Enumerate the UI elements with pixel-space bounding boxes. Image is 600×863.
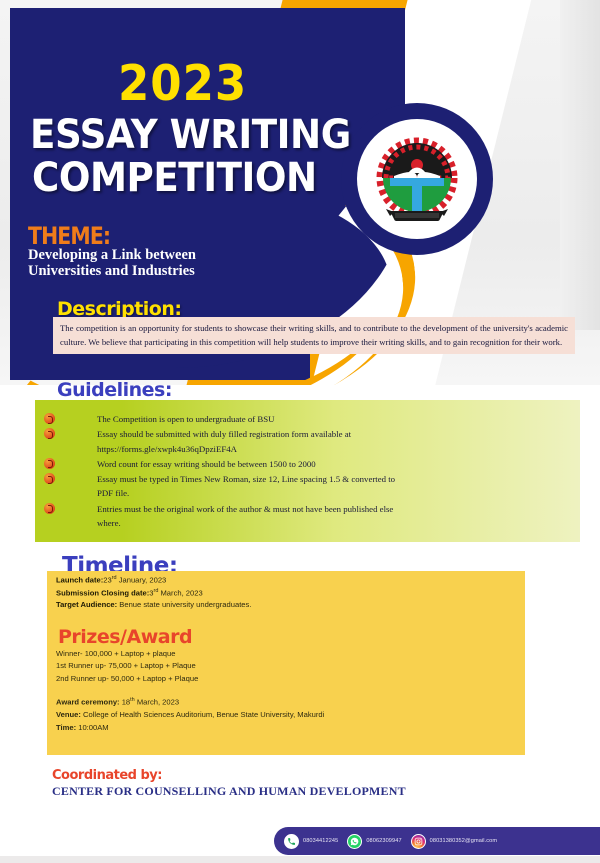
guideline-text: Essay must be typed in Times New Roman, … (97, 474, 395, 484)
theme-line-2: Universities and Industries (28, 264, 258, 280)
hand-point-icon (44, 458, 55, 469)
venue-row: Venue: College of Health Sciences Audito… (56, 709, 496, 722)
instagram-icon (411, 834, 426, 849)
theme-line-1: Developing a Link between (28, 248, 258, 264)
coordinated-by-label: Coordinated by: (52, 768, 162, 783)
target-audience-label: Target Audience: (56, 600, 117, 609)
list-item: Word count for essay writing should be b… (44, 457, 564, 471)
guideline-text: Word count for essay writing should be b… (97, 459, 316, 469)
guideline-text-cont: PDF file. (97, 486, 564, 500)
year-heading: 2023 (118, 55, 247, 112)
description-body: The competition is an opportunity for st… (50, 317, 575, 354)
whatsapp-number: 08062309947 (366, 838, 401, 844)
list-item: Essay must be typed in Times New Roman, … (44, 472, 564, 501)
theme-text: Developing a Link between Universities a… (28, 248, 258, 280)
prizes-list: Winner- 100,000 + Laptop + plaque 1st Ru… (56, 648, 496, 685)
time-row: Time: 10:00AM (56, 722, 496, 735)
ceremony-value: 18 (120, 698, 131, 707)
launch-date-value: 23 (103, 576, 111, 585)
guideline-text-cont: where. (97, 516, 564, 530)
time-label: Time: (56, 723, 76, 732)
contact-phone[interactable]: 08034412245 (284, 834, 338, 849)
phone-icon (284, 834, 299, 849)
title-line-2: COMPETITION (32, 155, 317, 201)
whatsapp-icon (347, 834, 362, 849)
logo-crest (370, 132, 464, 226)
ceremony-row: Award ceremony: 18th March, 2023 (56, 696, 496, 709)
target-audience-value: Benue state university undergraduates. (117, 600, 251, 609)
launch-date-rest: January, 2023 (117, 576, 167, 585)
email-address: 08031380352@gmail.com (430, 838, 498, 844)
time-value: 10:00AM (76, 723, 109, 732)
prize-row: 1st Runner up- 75,000 + Laptop + Plaque (56, 660, 496, 672)
theme-label: THEME: (28, 222, 110, 250)
guideline-text: Essay should be submitted with duly fill… (97, 429, 351, 439)
organisation-name: CENTER FOR COUNSELLING AND HUMAN DEVELOP… (52, 784, 406, 799)
guideline-text: Entries must be the original work of the… (97, 504, 393, 514)
ceremony-rest: March, 2023 (135, 698, 179, 707)
prize-row: 2nd Runner up- 50,000 + Laptop + Plaque (56, 673, 496, 685)
launch-date-row: Launch date:23rd January, 2023 (56, 574, 496, 587)
venue-value: College of Health Sciences Auditorium, B… (81, 710, 324, 719)
bottom-strip (0, 856, 600, 863)
list-item: Essay should be submitted with duly fill… (44, 427, 564, 456)
ceremony-label: Award ceremony: (56, 698, 120, 707)
prize-row: Winner- 100,000 + Laptop + plaque (56, 648, 496, 660)
timeline-details: Launch date:23rd January, 2023 Submissio… (56, 574, 496, 611)
closing-date-row: Submission Closing date:3rd March, 2023 (56, 587, 496, 600)
benue-state-university-logo (341, 103, 493, 255)
list-item: The Competition is open to undergraduate… (44, 412, 564, 426)
hand-point-icon (44, 428, 55, 439)
prizes-heading: Prizes/Award (58, 626, 192, 648)
guideline-link[interactable]: https://forms.gle/xwpk4u36qDpziEF4A (97, 442, 564, 456)
closing-date-label: Submission Closing date: (56, 588, 149, 597)
hand-point-icon (44, 413, 55, 424)
contact-bar: 08034412245 08062309947 08031380352@gmai… (274, 827, 600, 855)
guidelines-list: The Competition is open to undergraduate… (44, 412, 564, 531)
award-ceremony-details: Award ceremony: 18th March, 2023 Venue: … (56, 696, 496, 734)
closing-date-rest: March, 2023 (158, 588, 202, 597)
guideline-text: The Competition is open to undergraduate… (97, 414, 274, 424)
background-grey-edge (560, 0, 600, 330)
launch-date-label: Launch date: (56, 576, 103, 585)
hand-point-icon (44, 473, 55, 484)
poster-root: 2023 ESSAY WRITING COMPETITION THEME: De… (0, 0, 600, 863)
target-audience-row: Target Audience: Benue state university … (56, 599, 496, 611)
title-line-1: ESSAY WRITING (30, 112, 351, 158)
phone-number: 08034412245 (303, 838, 338, 844)
contact-whatsapp[interactable]: 08062309947 (347, 834, 401, 849)
guidelines-heading: Guidelines: (57, 379, 172, 401)
venue-label: Venue: (56, 710, 81, 719)
list-item: Entries must be the original work of the… (44, 502, 564, 531)
hand-point-icon (44, 503, 55, 514)
logo-crest-svg (370, 132, 464, 226)
contact-email[interactable]: 08031380352@gmail.com (411, 834, 498, 849)
